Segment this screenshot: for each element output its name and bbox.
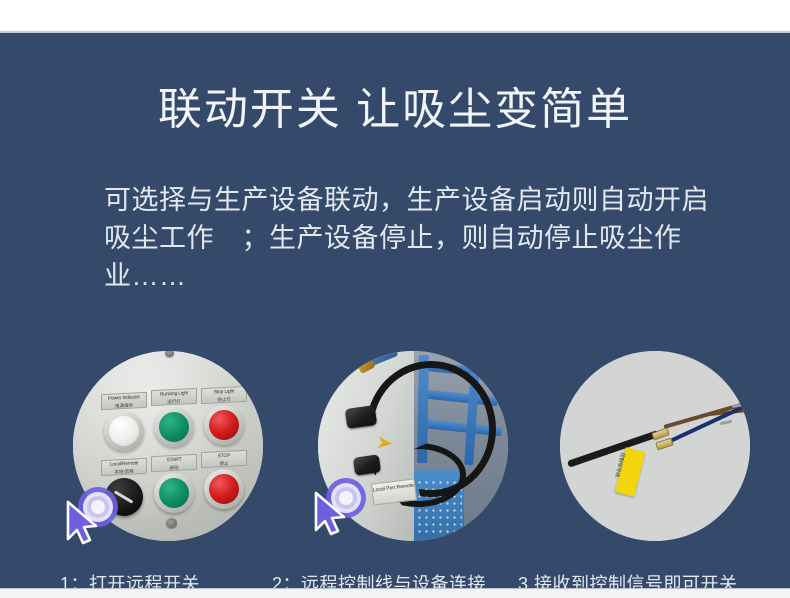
page-title: 联动开关 让吸尘变简单 xyxy=(0,81,790,139)
lamp-green xyxy=(159,412,189,442)
button-bezel xyxy=(154,473,194,513)
photo-background xyxy=(560,351,750,541)
button-label-cn: 停止 xyxy=(202,459,246,468)
button-power-indicator[interactable]: Power Indicator 电源指示 xyxy=(101,393,147,451)
button-label-cn: 启动 xyxy=(152,463,196,472)
button-label-cn: 停止灯 xyxy=(202,395,246,404)
lamp-white xyxy=(109,416,139,446)
button-bezel xyxy=(154,407,194,447)
mouse-pointer-icon xyxy=(312,490,352,538)
button-label: START 启动 xyxy=(151,454,197,472)
button-label: Running Light 运行灯 xyxy=(151,388,197,406)
button-bezel xyxy=(204,405,244,445)
button-stop-light[interactable]: Stop Light 停止灯 xyxy=(201,387,247,445)
button-label-cn: 本地/远程 xyxy=(102,467,146,476)
button-stop[interactable]: STOP 停止 xyxy=(201,451,247,509)
top-margin xyxy=(0,0,790,31)
promo-banner: 联动开关 让吸尘变简单 可选择与生产设备联动，生产设备启动则自动开启吸尘工作 ；… xyxy=(0,0,790,598)
lamp-red xyxy=(209,410,239,440)
cursor-photo-1 xyxy=(64,485,134,555)
description-text: 可选择与生产设备联动，生产设备启动则自动开启吸尘工作 ；生产设备停止，则自动停止… xyxy=(104,181,714,295)
mouse-pointer-icon xyxy=(64,499,104,547)
photo-row: Power Indicator 电源指示 Running Light 运行灯 xyxy=(0,351,790,543)
button-label: STOP 停止 xyxy=(201,450,247,468)
screw-icon xyxy=(166,518,177,528)
photo-control-wire: 控制信号线 xyxy=(560,351,750,541)
button-bezel xyxy=(204,469,244,509)
content-panel: 联动开关 让吸尘变简单 可选择与生产设备联动，生产设备启动则自动开启吸尘工作 ；… xyxy=(0,33,790,588)
button-label: Power Indicator 电源指示 xyxy=(101,392,147,410)
connector-upper[interactable] xyxy=(345,405,377,429)
button-running-light[interactable]: Running Light 运行灯 xyxy=(151,389,197,447)
bottom-margin xyxy=(0,589,790,598)
button-label: Stop Light 停止灯 xyxy=(201,386,247,404)
pushbutton-green xyxy=(159,478,189,508)
button-start[interactable]: START 启动 xyxy=(151,455,197,513)
button-label-cn: 运行灯 xyxy=(152,397,196,406)
button-label: Local/Remote 本地/远程 xyxy=(101,458,147,476)
button-bezel xyxy=(104,411,144,451)
cursor-photo-2 xyxy=(312,476,382,546)
pushbutton-red xyxy=(209,474,239,504)
connector-lower[interactable] xyxy=(353,454,381,475)
